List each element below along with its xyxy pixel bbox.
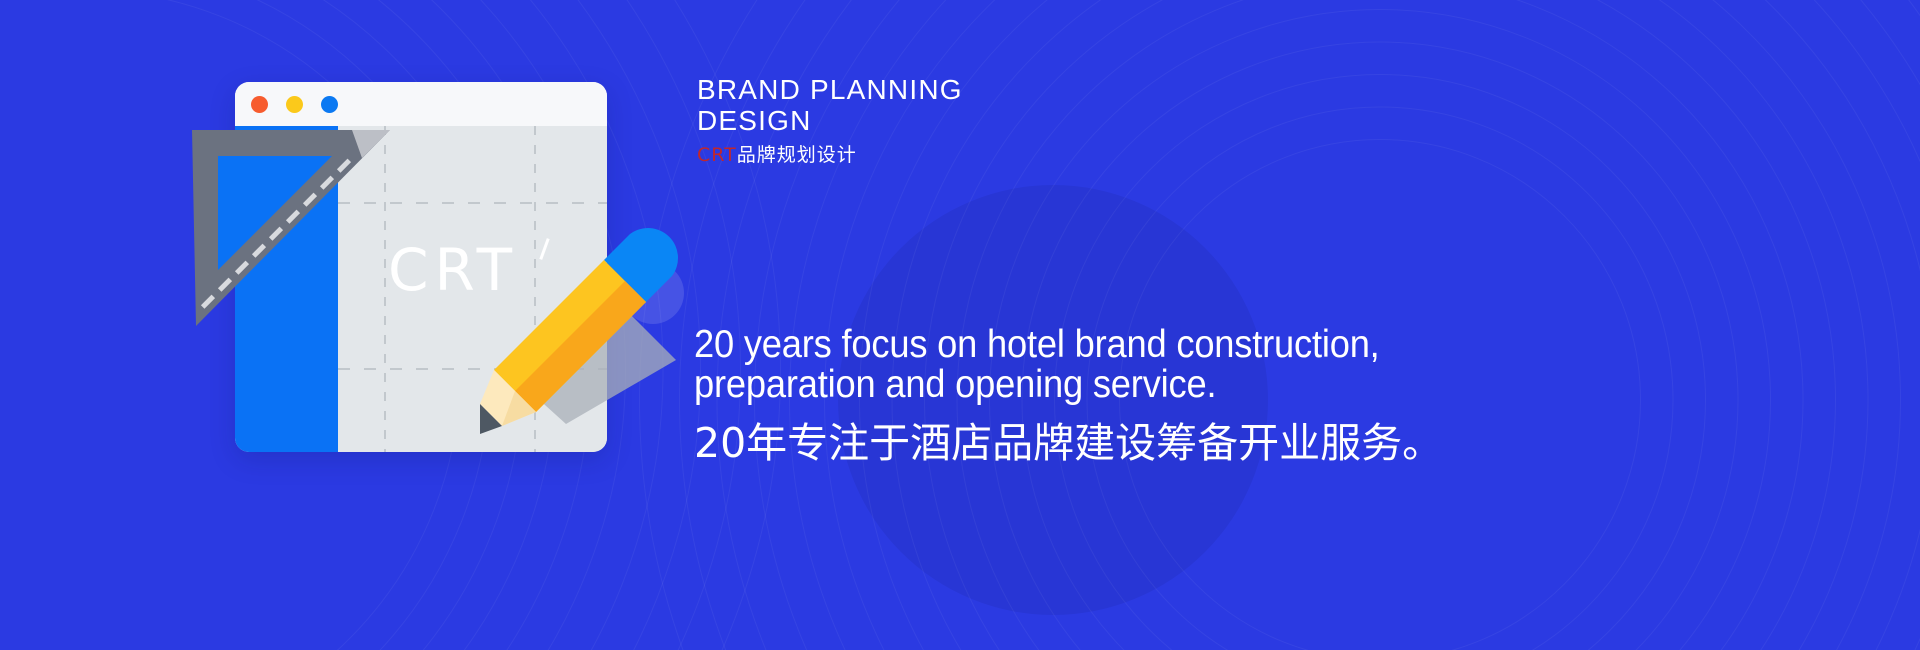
tagline-english: 20 years focus on hotel brand constructi… (694, 325, 1391, 405)
tagline-chinese: 20年专注于酒店品牌建设筹备开业服务。 (694, 420, 1443, 466)
maximize-dot-icon[interactable] (321, 96, 338, 113)
minimize-dot-icon[interactable] (286, 96, 303, 113)
heading-chinese: CRT品牌规划设计 (697, 144, 963, 166)
triangle-ruler-icon (192, 130, 422, 330)
illustration-group: CRT (0, 0, 780, 650)
heading-brand-text: CRT (697, 144, 737, 166)
heading-chinese-text: 品牌规划设计 (737, 144, 857, 166)
heading-english: BRAND PLANNING DESIGN (697, 74, 963, 136)
close-dot-icon[interactable] (251, 96, 268, 113)
pencil-icon (480, 228, 700, 438)
heading-block: BRAND PLANNING DESIGN CRT品牌规划设计 (697, 74, 963, 166)
tagline-block: 20 years focus on hotel brand constructi… (694, 325, 1443, 466)
browser-titlebar (235, 82, 607, 126)
brand-banner: CRT (0, 0, 1920, 650)
